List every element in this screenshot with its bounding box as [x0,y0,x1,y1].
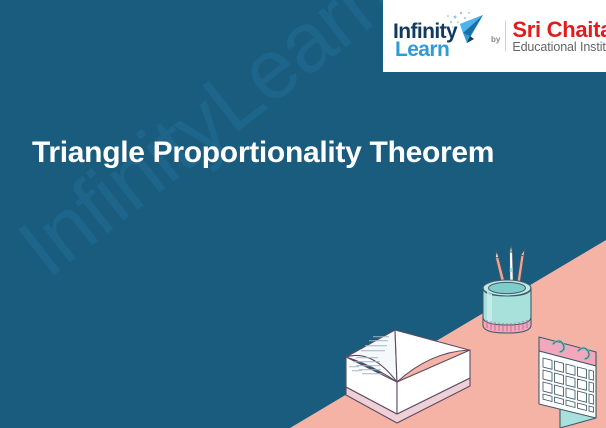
page-title: Triangle Proportionality Theorem [32,136,582,171]
brand-name-secondary: Learn [395,39,449,60]
pencil-icon [496,251,508,292]
logo-divider [505,21,506,51]
brand-logo-lockup[interactable]: Infinity Learn [383,0,606,72]
sri-chaitanya-logo[interactable]: Sri Chaitanya Educational Institutions [512,18,598,55]
partner-subtitle: Educational Institutions [512,41,598,55]
pen-icon [510,245,514,290]
partner-name: Sri Chaitanya [512,18,598,41]
logo-connector-label: by [489,35,505,44]
pencil-icon [516,249,525,291]
slide-canvas: InfinityLearn.com [0,0,606,428]
paper-plane-icon [443,10,487,50]
infinity-learn-logo[interactable]: Infinity Learn [393,8,489,64]
